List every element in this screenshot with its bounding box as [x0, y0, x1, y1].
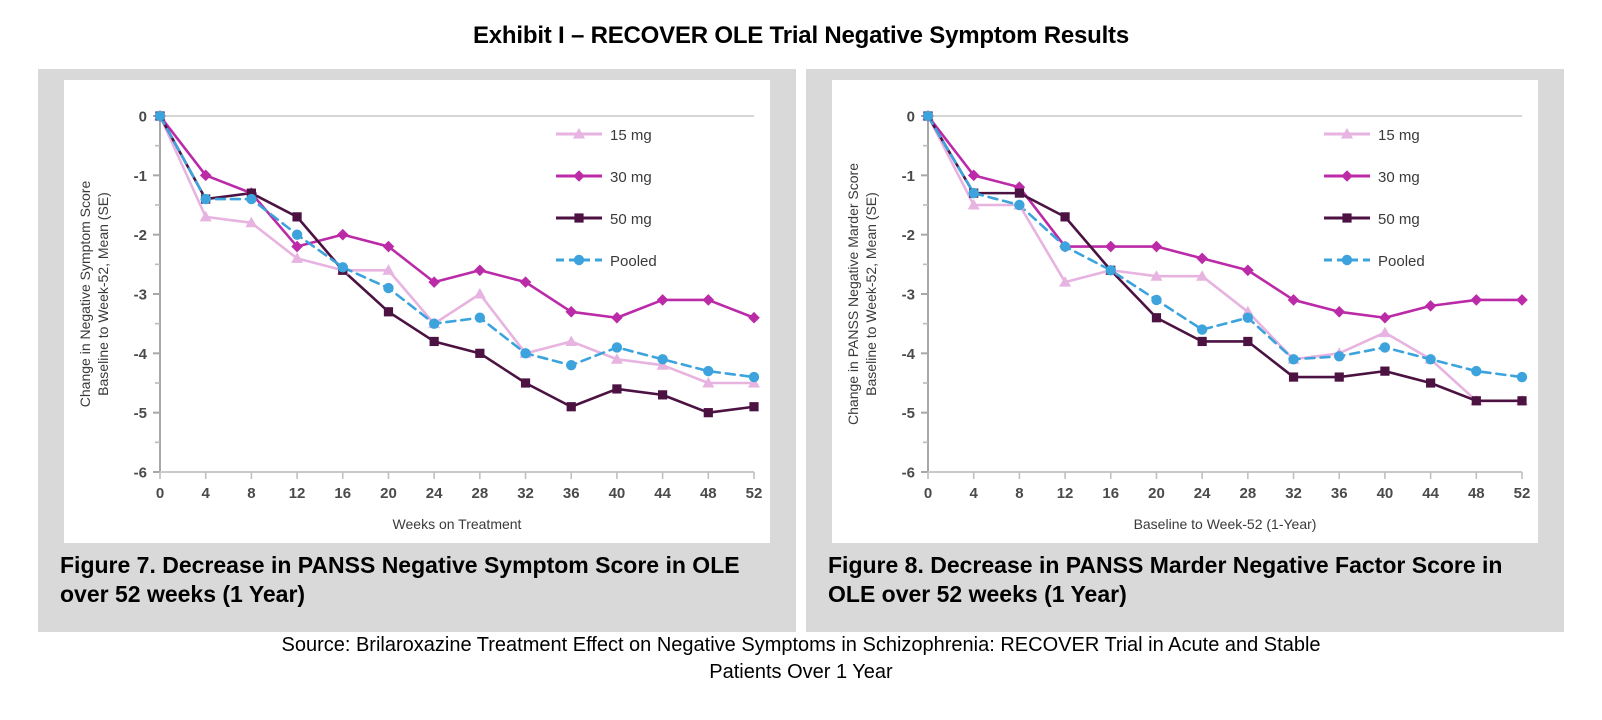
data-point-30-mg — [1333, 306, 1345, 318]
x-tick-label: 16 — [1102, 485, 1119, 502]
data-point-30-mg — [657, 294, 669, 306]
legend-item-15-mg[interactable]: 15 mg — [1324, 127, 1420, 144]
data-point-50-mg — [612, 384, 621, 393]
x-tick-label: 36 — [563, 485, 580, 502]
figure-panel-right: 0-1-2-3-4-5-60481216202428323640444852Ba… — [806, 69, 1564, 632]
data-point-50-mg — [1426, 378, 1435, 387]
data-point-30-mg — [748, 312, 760, 324]
x-tick-label: 52 — [1514, 485, 1531, 502]
data-point-50-mg — [475, 349, 484, 358]
y-tick-label: -3 — [134, 287, 147, 304]
chart-card-right: 0-1-2-3-4-5-60481216202428323640444852Ba… — [832, 80, 1538, 543]
legend-label: 30 mg — [1378, 169, 1420, 186]
data-point-pooled — [703, 366, 713, 376]
figure-caption-right-line1: Figure 8. Decrease in PANSS Marder Negat… — [828, 552, 1329, 578]
x-tick-label: 28 — [1240, 485, 1257, 502]
y-axis-title-line1: Change in PANSS Negative Marder Score — [845, 163, 861, 425]
y-tick-label: -5 — [902, 405, 915, 422]
data-point-pooled — [566, 360, 576, 370]
y-tick-label: -4 — [902, 346, 916, 363]
series-markers — [154, 110, 760, 417]
data-point-30-mg — [1151, 241, 1163, 253]
data-point-pooled — [200, 194, 210, 204]
legend-marker — [573, 170, 585, 182]
figure-caption-left: Figure 7. Decrease in PANSS Negative Sym… — [60, 551, 776, 608]
data-point-pooled — [1517, 372, 1527, 382]
data-point-50-mg — [749, 402, 758, 411]
legend-item-50-mg[interactable]: 50 mg — [556, 211, 652, 228]
y-tick-label: -5 — [134, 405, 147, 422]
x-tick-label: 20 — [1148, 485, 1165, 502]
x-tick-label: 8 — [247, 485, 255, 502]
data-point-30-mg — [337, 229, 349, 241]
x-tick-label: 4 — [970, 485, 979, 502]
data-point-pooled — [1060, 241, 1070, 251]
legend-label: 15 mg — [1378, 127, 1420, 144]
data-point-50-mg — [658, 390, 667, 399]
y-tick-label: -3 — [902, 287, 915, 304]
data-point-50-mg — [1380, 367, 1389, 376]
data-point-50-mg — [1289, 372, 1298, 381]
data-point-pooled — [1106, 265, 1116, 275]
axes: 0-1-2-3-4-5-60481216202428323640444852 — [134, 109, 763, 503]
x-tick-label: 20 — [380, 485, 397, 502]
chart-legend: 15 mg30 mg50 mgPooled — [556, 127, 657, 270]
legend-label: Pooled — [610, 253, 657, 270]
y-tick-label: 0 — [139, 109, 147, 126]
legend-label: 50 mg — [1378, 211, 1420, 228]
legend-item-pooled[interactable]: Pooled — [1324, 253, 1425, 270]
data-point-pooled — [1380, 342, 1390, 352]
legend-item-30-mg[interactable]: 30 mg — [556, 169, 652, 186]
data-point-30-mg — [1196, 253, 1208, 265]
data-point-30-mg — [611, 312, 623, 324]
x-tick-label: 12 — [289, 485, 306, 502]
data-point-pooled — [1471, 366, 1481, 376]
legend-item-15-mg[interactable]: 15 mg — [556, 127, 652, 144]
legend-marker — [1342, 213, 1351, 222]
legend-marker — [1342, 255, 1352, 265]
x-tick-label: 28 — [472, 485, 489, 502]
series-line-30-mg — [160, 116, 754, 318]
y-tick-label: -1 — [134, 168, 147, 185]
source-line-2: Patients Over 1 Year — [0, 659, 1602, 686]
data-point-pooled — [155, 111, 165, 121]
legend-item-50-mg[interactable]: 50 mg — [1324, 211, 1420, 228]
data-point-pooled — [1288, 354, 1298, 364]
data-point-pooled — [475, 313, 485, 323]
x-tick-label: 40 — [609, 485, 626, 502]
x-tick-label: 0 — [924, 485, 932, 502]
figure-caption-right: Figure 8. Decrease in PANSS Marder Negat… — [828, 551, 1544, 608]
legend-label: Pooled — [1378, 253, 1425, 270]
x-tick-label: 36 — [1331, 485, 1348, 502]
page-title: Exhibit I – RECOVER OLE Trial Negative S… — [0, 22, 1602, 50]
data-point-pooled — [520, 348, 530, 358]
data-point-50-mg — [704, 408, 713, 417]
legend-marker — [574, 213, 583, 222]
line-chart-negative-symptom: 0-1-2-3-4-5-60481216202428323640444852We… — [64, 80, 770, 543]
data-point-50-mg — [1015, 189, 1024, 198]
x-tick-label: 32 — [1285, 485, 1302, 502]
data-point-50-mg — [1152, 313, 1161, 322]
data-point-pooled — [246, 194, 256, 204]
series-line-pooled — [928, 116, 1522, 377]
data-point-30-mg — [703, 294, 715, 306]
data-point-15-mg — [474, 288, 486, 299]
source-line-1: Source: Brilaroxazine Treatment Effect o… — [281, 634, 1320, 656]
data-point-30-mg — [1516, 294, 1528, 306]
data-point-15-mg — [565, 335, 577, 346]
line-chart-marder-factor: 0-1-2-3-4-5-60481216202428323640444852Ba… — [832, 80, 1538, 543]
x-tick-label: 12 — [1057, 485, 1074, 502]
x-tick-label: 16 — [334, 485, 351, 502]
x-tick-label: 4 — [202, 485, 211, 502]
data-point-50-mg — [430, 337, 439, 346]
data-point-30-mg — [1105, 241, 1117, 253]
data-point-50-mg — [567, 402, 576, 411]
data-point-pooled — [338, 262, 348, 272]
data-point-15-mg — [1379, 327, 1391, 338]
data-point-50-mg — [1198, 337, 1207, 346]
data-point-pooled — [1014, 200, 1024, 210]
data-point-pooled — [612, 342, 622, 352]
source-note: Source: Brilaroxazine Treatment Effect o… — [0, 632, 1602, 686]
x-tick-label: 8 — [1015, 485, 1023, 502]
data-point-50-mg — [1243, 337, 1252, 346]
x-tick-label: 32 — [517, 485, 534, 502]
data-point-pooled — [923, 111, 933, 121]
data-point-pooled — [429, 318, 439, 328]
y-axis-title-line2: Baseline to Week-52, Mean (SE) — [95, 192, 111, 396]
figure-panel-left: 0-1-2-3-4-5-60481216202428323640444852We… — [38, 69, 796, 632]
y-axis-title-line1: Change in Negative Symptom Score — [77, 181, 93, 408]
x-tick-label: 24 — [1194, 485, 1211, 502]
data-point-pooled — [1243, 313, 1253, 323]
data-point-50-mg — [1335, 372, 1344, 381]
data-point-50-mg — [1060, 212, 1069, 221]
x-axis-title: Baseline to Week-52 (1-Year) — [1134, 516, 1317, 532]
y-tick-label: -4 — [134, 346, 148, 363]
chart-card-left: 0-1-2-3-4-5-60481216202428323640444852We… — [64, 80, 770, 543]
series-line-30-mg — [928, 116, 1522, 318]
figures-container: 0-1-2-3-4-5-60481216202428323640444852We… — [38, 69, 1564, 632]
data-point-50-mg — [521, 378, 530, 387]
data-point-pooled — [1151, 295, 1161, 305]
legend-item-30-mg[interactable]: 30 mg — [1324, 169, 1420, 186]
data-point-pooled — [292, 229, 302, 239]
series-line-pooled — [160, 116, 754, 377]
x-tick-label: 24 — [426, 485, 443, 502]
x-axis-title: Weeks on Treatment — [393, 516, 522, 532]
data-point-pooled — [657, 354, 667, 364]
data-point-30-mg — [1471, 294, 1483, 306]
data-point-pooled — [968, 188, 978, 198]
data-point-50-mg — [292, 212, 301, 221]
legend-label: 50 mg — [610, 211, 652, 228]
legend-marker — [1341, 170, 1353, 182]
data-point-50-mg — [1472, 396, 1481, 405]
x-tick-label: 0 — [156, 485, 164, 502]
data-point-pooled — [1425, 354, 1435, 364]
x-tick-label: 52 — [746, 485, 763, 502]
legend-label: 30 mg — [610, 169, 652, 186]
chart-legend: 15 mg30 mg50 mgPooled — [1324, 127, 1425, 270]
figure-caption-left-line1: Figure 7. Decrease in PANSS Negative Sym… — [60, 552, 589, 578]
data-point-pooled — [1334, 351, 1344, 361]
data-point-pooled — [383, 283, 393, 293]
legend-item-pooled[interactable]: Pooled — [556, 253, 657, 270]
x-tick-label: 44 — [654, 485, 671, 502]
data-point-30-mg — [474, 264, 486, 276]
x-tick-label: 40 — [1377, 485, 1394, 502]
x-tick-label: 48 — [1468, 485, 1485, 502]
data-point-50-mg — [1517, 396, 1526, 405]
y-tick-label: -2 — [902, 227, 915, 244]
data-point-pooled — [749, 372, 759, 382]
x-tick-label: 44 — [1422, 485, 1439, 502]
y-tick-label: 0 — [907, 109, 915, 126]
exhibit-page: Exhibit I – RECOVER OLE Trial Negative S… — [0, 0, 1602, 720]
y-tick-label: -6 — [134, 465, 147, 482]
data-point-30-mg — [1425, 300, 1437, 312]
y-tick-label: -2 — [134, 227, 147, 244]
data-point-50-mg — [384, 307, 393, 316]
data-point-30-mg — [1379, 312, 1391, 324]
data-point-pooled — [1197, 324, 1207, 334]
y-tick-label: -6 — [902, 465, 915, 482]
y-axis-title-line2: Baseline to Week-52, Mean (SE) — [863, 192, 879, 396]
legend-marker — [574, 255, 584, 265]
legend-label: 15 mg — [610, 127, 652, 144]
series-line-15-mg — [160, 116, 754, 383]
x-tick-label: 48 — [700, 485, 717, 502]
y-tick-label: -1 — [902, 168, 915, 185]
